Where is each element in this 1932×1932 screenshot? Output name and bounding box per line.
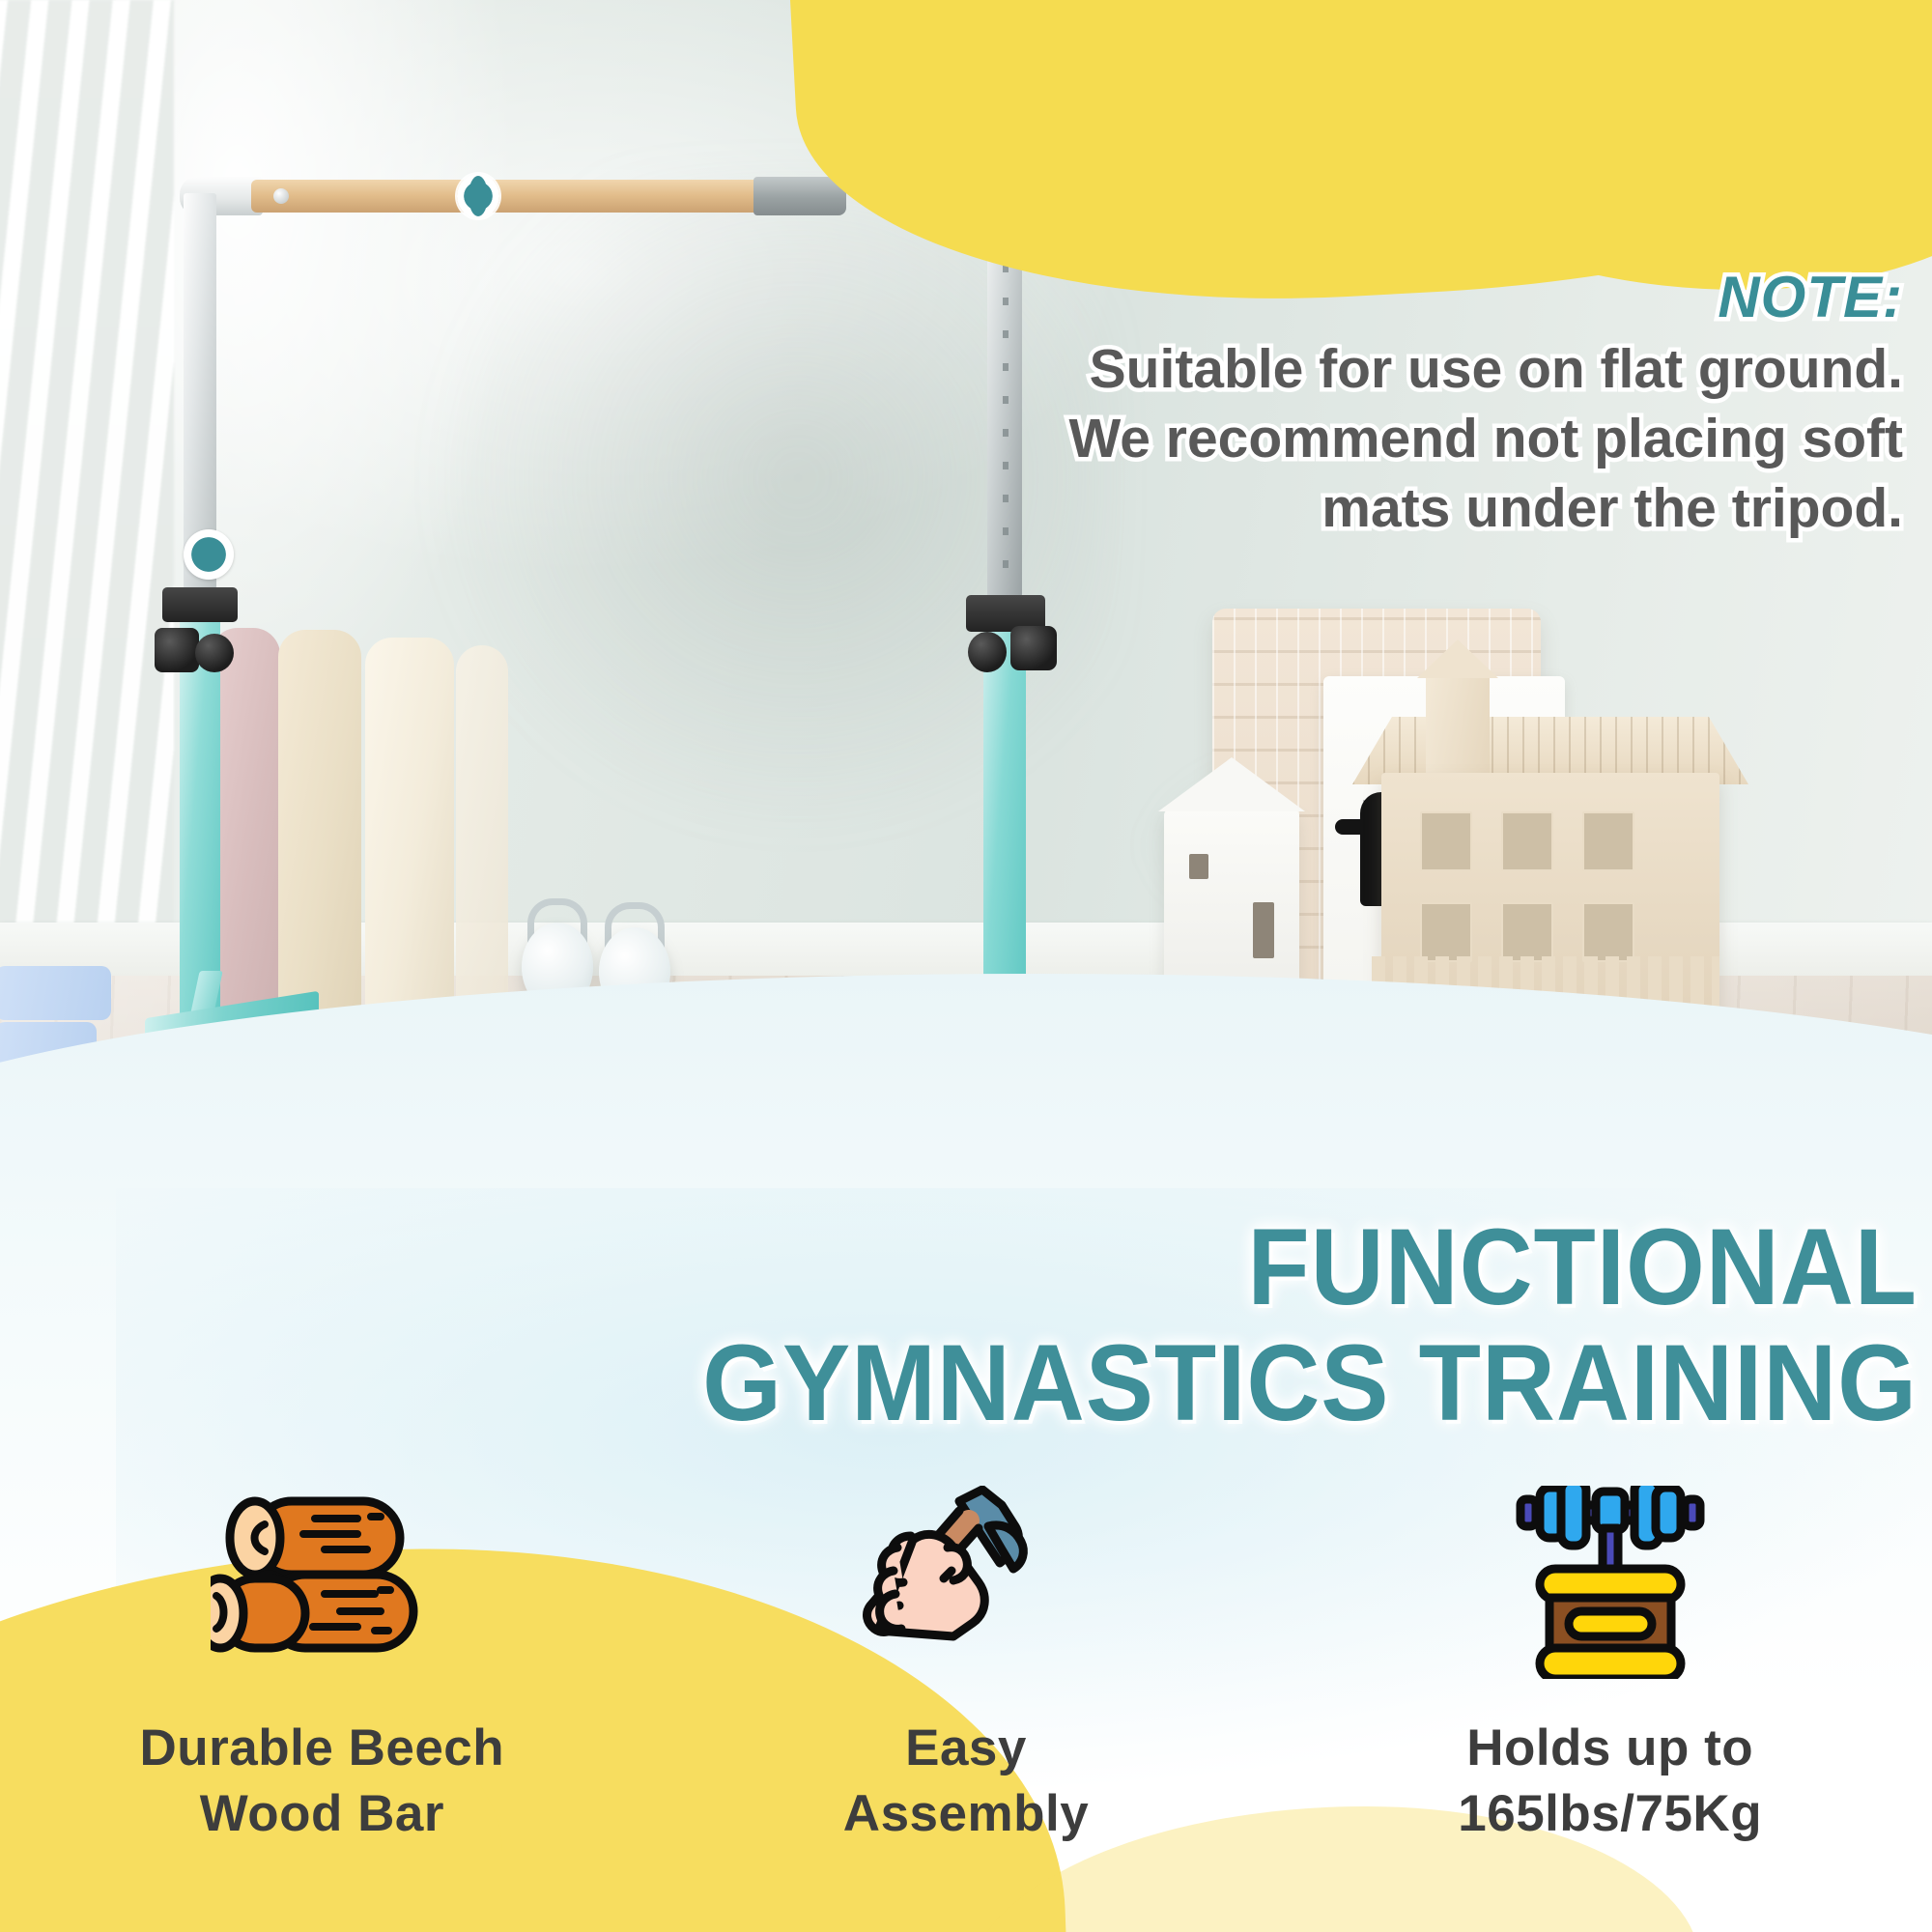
adjustment-knob — [1010, 626, 1057, 670]
adjustment-knob — [195, 634, 234, 672]
note-callout: NOTE: Suitable for use on flat ground. W… — [1005, 267, 1903, 543]
feature-label: Holds up to165lbs/75Kg — [1458, 1716, 1762, 1847]
feature-label: Durable BeechWood Bar — [140, 1716, 505, 1847]
wood-logs-icon — [211, 1486, 433, 1679]
feature-weight-capacity: Holds up to165lbs/75Kg — [1288, 1486, 1932, 1847]
headline-line-1: FUNCTIONAL — [115, 1209, 1918, 1325]
feature-label: EasyAssembly — [843, 1716, 1089, 1847]
height-clamp-left — [162, 587, 238, 622]
brand-badge-icon — [184, 529, 234, 580]
beech-wood-bar — [251, 180, 763, 213]
note-body: Suitable for use on flat ground. We reco… — [1005, 335, 1903, 543]
weight-rack-icon — [1499, 1486, 1721, 1679]
hand-hammer-icon — [855, 1486, 1077, 1679]
page-title: FUNCTIONAL GYMNASTICS TRAINING — [115, 1209, 1918, 1441]
headline-line-2: GYMNASTICS TRAINING — [115, 1325, 1918, 1441]
adjustment-knob — [155, 628, 199, 672]
bar-end-cap-right — [753, 177, 846, 215]
feature-row: Durable BeechWood Bar — [0, 1486, 1932, 1911]
note-title: NOTE: — [1005, 267, 1903, 327]
adjustment-knob — [968, 632, 1007, 672]
brand-badge-icon — [457, 174, 499, 218]
bar-screw — [273, 188, 289, 204]
dollhouse-tower — [1426, 676, 1490, 782]
feature-easy-assembly: EasyAssembly — [644, 1486, 1289, 1847]
feature-durable-beech-wood-bar: Durable BeechWood Bar — [0, 1486, 644, 1847]
product-marketing-image: NOTE: Suitable for use on flat ground. W… — [0, 0, 1932, 1932]
